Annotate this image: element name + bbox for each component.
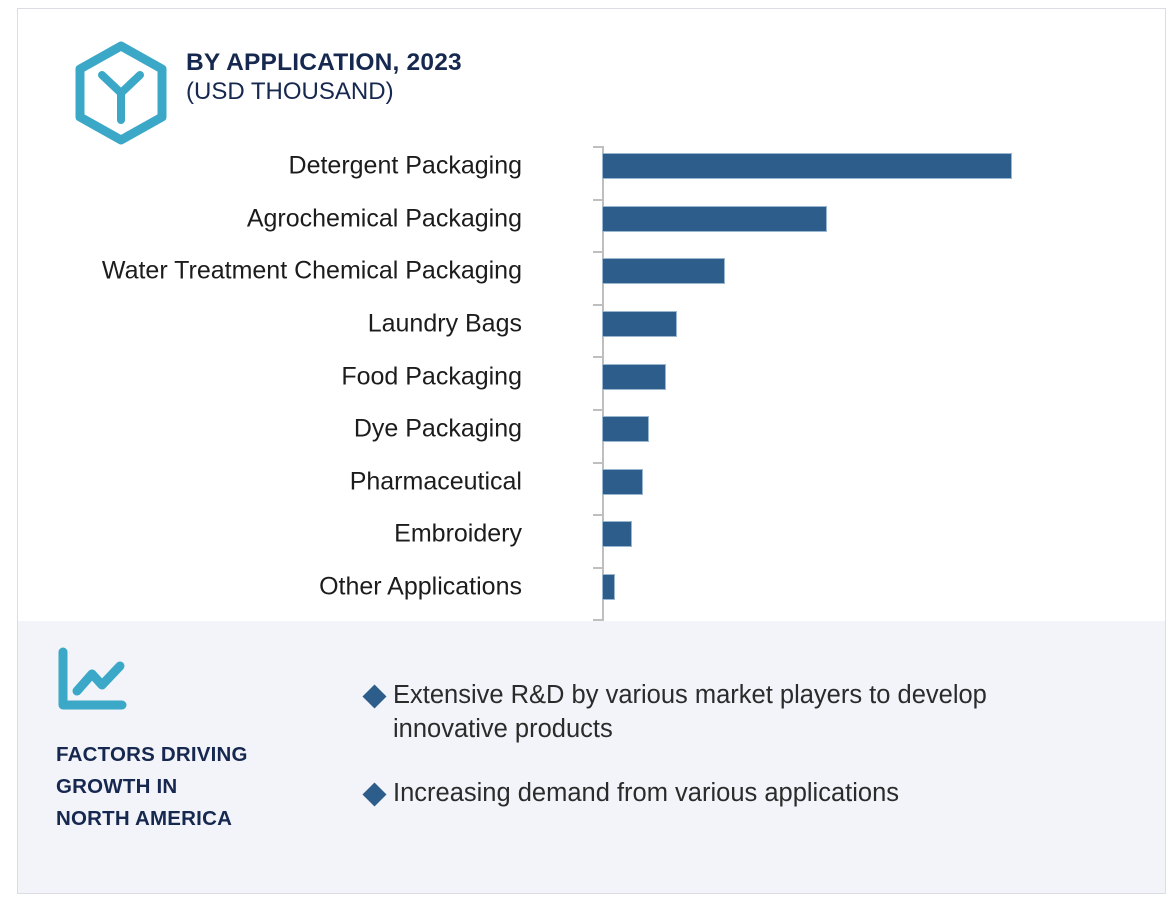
hexagon-y-icon <box>73 41 169 145</box>
page-title: BY APPLICATION, 2023 <box>186 49 686 76</box>
infographic-root: BY APPLICATION, 2023 (USD THOUSAND) Dete… <box>0 0 1170 902</box>
bar-category-label: Detergent Packaging <box>289 152 534 181</box>
bar-category-label: Water Treatment Chemical Packaging <box>102 257 534 286</box>
bar-chart: Detergent PackagingAgrochemical Packagin… <box>18 140 1167 629</box>
bar-category-label: Laundry Bags <box>368 310 534 339</box>
bar <box>602 574 615 600</box>
bar-container <box>602 456 643 509</box>
bar-container <box>602 298 677 351</box>
bar <box>602 416 649 442</box>
bar-category-label: Pharmaceutical <box>350 467 534 496</box>
bar-row: Other Applications <box>18 561 1118 614</box>
footer-heading-line-3: NORTH AMERICA <box>56 803 346 835</box>
chart-header: BY APPLICATION, 2023 (USD THOUSAND) <box>73 37 693 137</box>
bar-row: Embroidery <box>18 508 1118 561</box>
bar-row: Agrochemical Packaging <box>18 193 1118 246</box>
footer-left-block: FACTORS DRIVING GROWTH IN NORTH AMERICA <box>56 647 346 834</box>
bar-category-label: Other Applications <box>319 573 534 602</box>
bar <box>602 258 725 284</box>
page-subtitle: (USD THOUSAND) <box>186 76 686 108</box>
footer-bullet-list: Extensive R&D by various market players … <box>366 679 1126 811</box>
bar-container <box>602 245 725 298</box>
bar-container <box>602 140 1012 193</box>
bar <box>602 206 827 232</box>
bar-row: Pharmaceutical <box>18 456 1118 509</box>
bar-container <box>602 193 827 246</box>
bar <box>602 153 1012 179</box>
bar-rows: Detergent PackagingAgrochemical Packagin… <box>18 140 1118 613</box>
footer-bullet-item: Increasing demand from various applicati… <box>366 777 1126 811</box>
bar-row: Detergent Packaging <box>18 140 1118 193</box>
bar <box>602 311 677 337</box>
footer-bullet-text: Extensive R&D by various market players … <box>393 679 1093 747</box>
header-text-block: BY APPLICATION, 2023 (USD THOUSAND) <box>186 49 686 109</box>
footer-heading-line-1: FACTORS DRIVING <box>56 739 346 771</box>
bar <box>602 469 643 495</box>
bar-category-label: Agrochemical Packaging <box>247 204 534 233</box>
diamond-bullet-icon <box>362 684 386 708</box>
bar-container <box>602 350 666 403</box>
bar-category-label: Embroidery <box>394 520 534 549</box>
footer-bullet-text: Increasing demand from various applicati… <box>393 777 899 811</box>
bar-row: Food Packaging <box>18 350 1118 403</box>
bar <box>602 521 632 547</box>
footer-heading: FACTORS DRIVING GROWTH IN NORTH AMERICA <box>56 739 346 834</box>
bar-container <box>602 403 649 456</box>
diamond-bullet-icon <box>362 782 386 806</box>
bar-row: Dye Packaging <box>18 403 1118 456</box>
bar-container <box>602 561 615 614</box>
footer-panel: FACTORS DRIVING GROWTH IN NORTH AMERICA … <box>18 621 1165 893</box>
infographic-frame: BY APPLICATION, 2023 (USD THOUSAND) Dete… <box>17 8 1166 894</box>
bar <box>602 364 666 390</box>
footer-heading-line-2: GROWTH IN <box>56 771 346 803</box>
bar-row: Water Treatment Chemical Packaging <box>18 245 1118 298</box>
bar-category-label: Dye Packaging <box>354 415 534 444</box>
footer-bullet-item: Extensive R&D by various market players … <box>366 679 1126 747</box>
line-chart-icon <box>56 647 346 713</box>
bar-row: Laundry Bags <box>18 298 1118 351</box>
bar-container <box>602 508 632 561</box>
bar-category-label: Food Packaging <box>341 362 534 391</box>
